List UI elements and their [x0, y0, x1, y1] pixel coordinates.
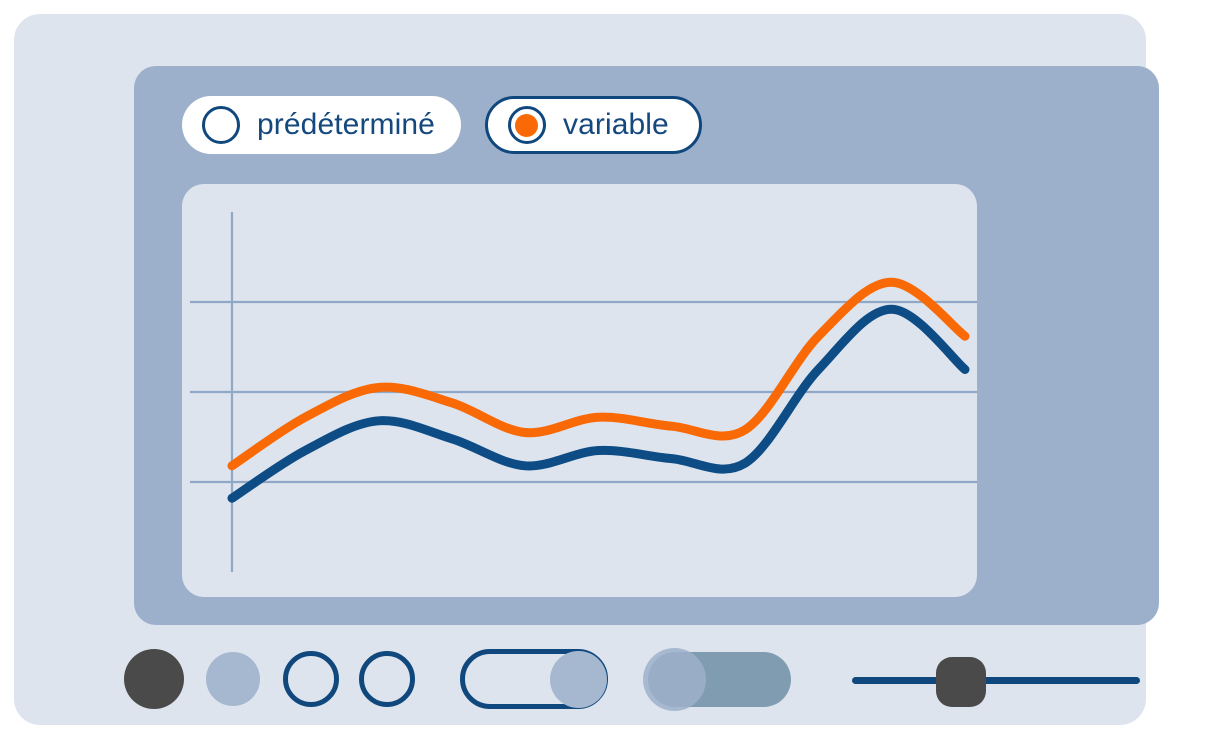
- line-chart: [182, 184, 977, 597]
- dot-outline-1[interactable]: [283, 651, 339, 707]
- outer-card: prédéterminé variable: [14, 14, 1146, 725]
- chart-series-variable: [232, 282, 965, 466]
- radio-unchecked-icon[interactable]: [202, 106, 240, 144]
- chart-series-predetermine: [232, 309, 965, 498]
- chart-panel: [182, 184, 977, 597]
- range-slider[interactable]: [852, 653, 1142, 709]
- toggle-outline-knob[interactable]: [550, 651, 607, 708]
- radio-option-predetermine[interactable]: prédéterminé: [182, 96, 461, 154]
- dot-outline-2[interactable]: [359, 651, 415, 707]
- slider-thumb[interactable]: [936, 657, 986, 707]
- slider-track[interactable]: [852, 677, 1140, 684]
- radio-dot: [515, 114, 538, 137]
- toggle-filled[interactable]: [648, 652, 791, 707]
- radio-option-variable[interactable]: variable: [485, 96, 702, 154]
- toggle-outline[interactable]: [460, 649, 608, 709]
- radio-option-variable-label: variable: [563, 110, 669, 140]
- radio-group: prédéterminé variable: [182, 96, 702, 154]
- device-frame-panel: prédéterminé variable: [134, 66, 1159, 625]
- dot-light[interactable]: [206, 652, 260, 706]
- control-strip: [14, 639, 1146, 729]
- radio-checked-icon[interactable]: [508, 106, 546, 144]
- dot-dark[interactable]: [124, 649, 184, 709]
- screen-root: prédéterminé variable: [0, 0, 1231, 739]
- radio-option-predetermine-label: prédéterminé: [257, 110, 435, 140]
- toggle-filled-knob[interactable]: [643, 648, 706, 711]
